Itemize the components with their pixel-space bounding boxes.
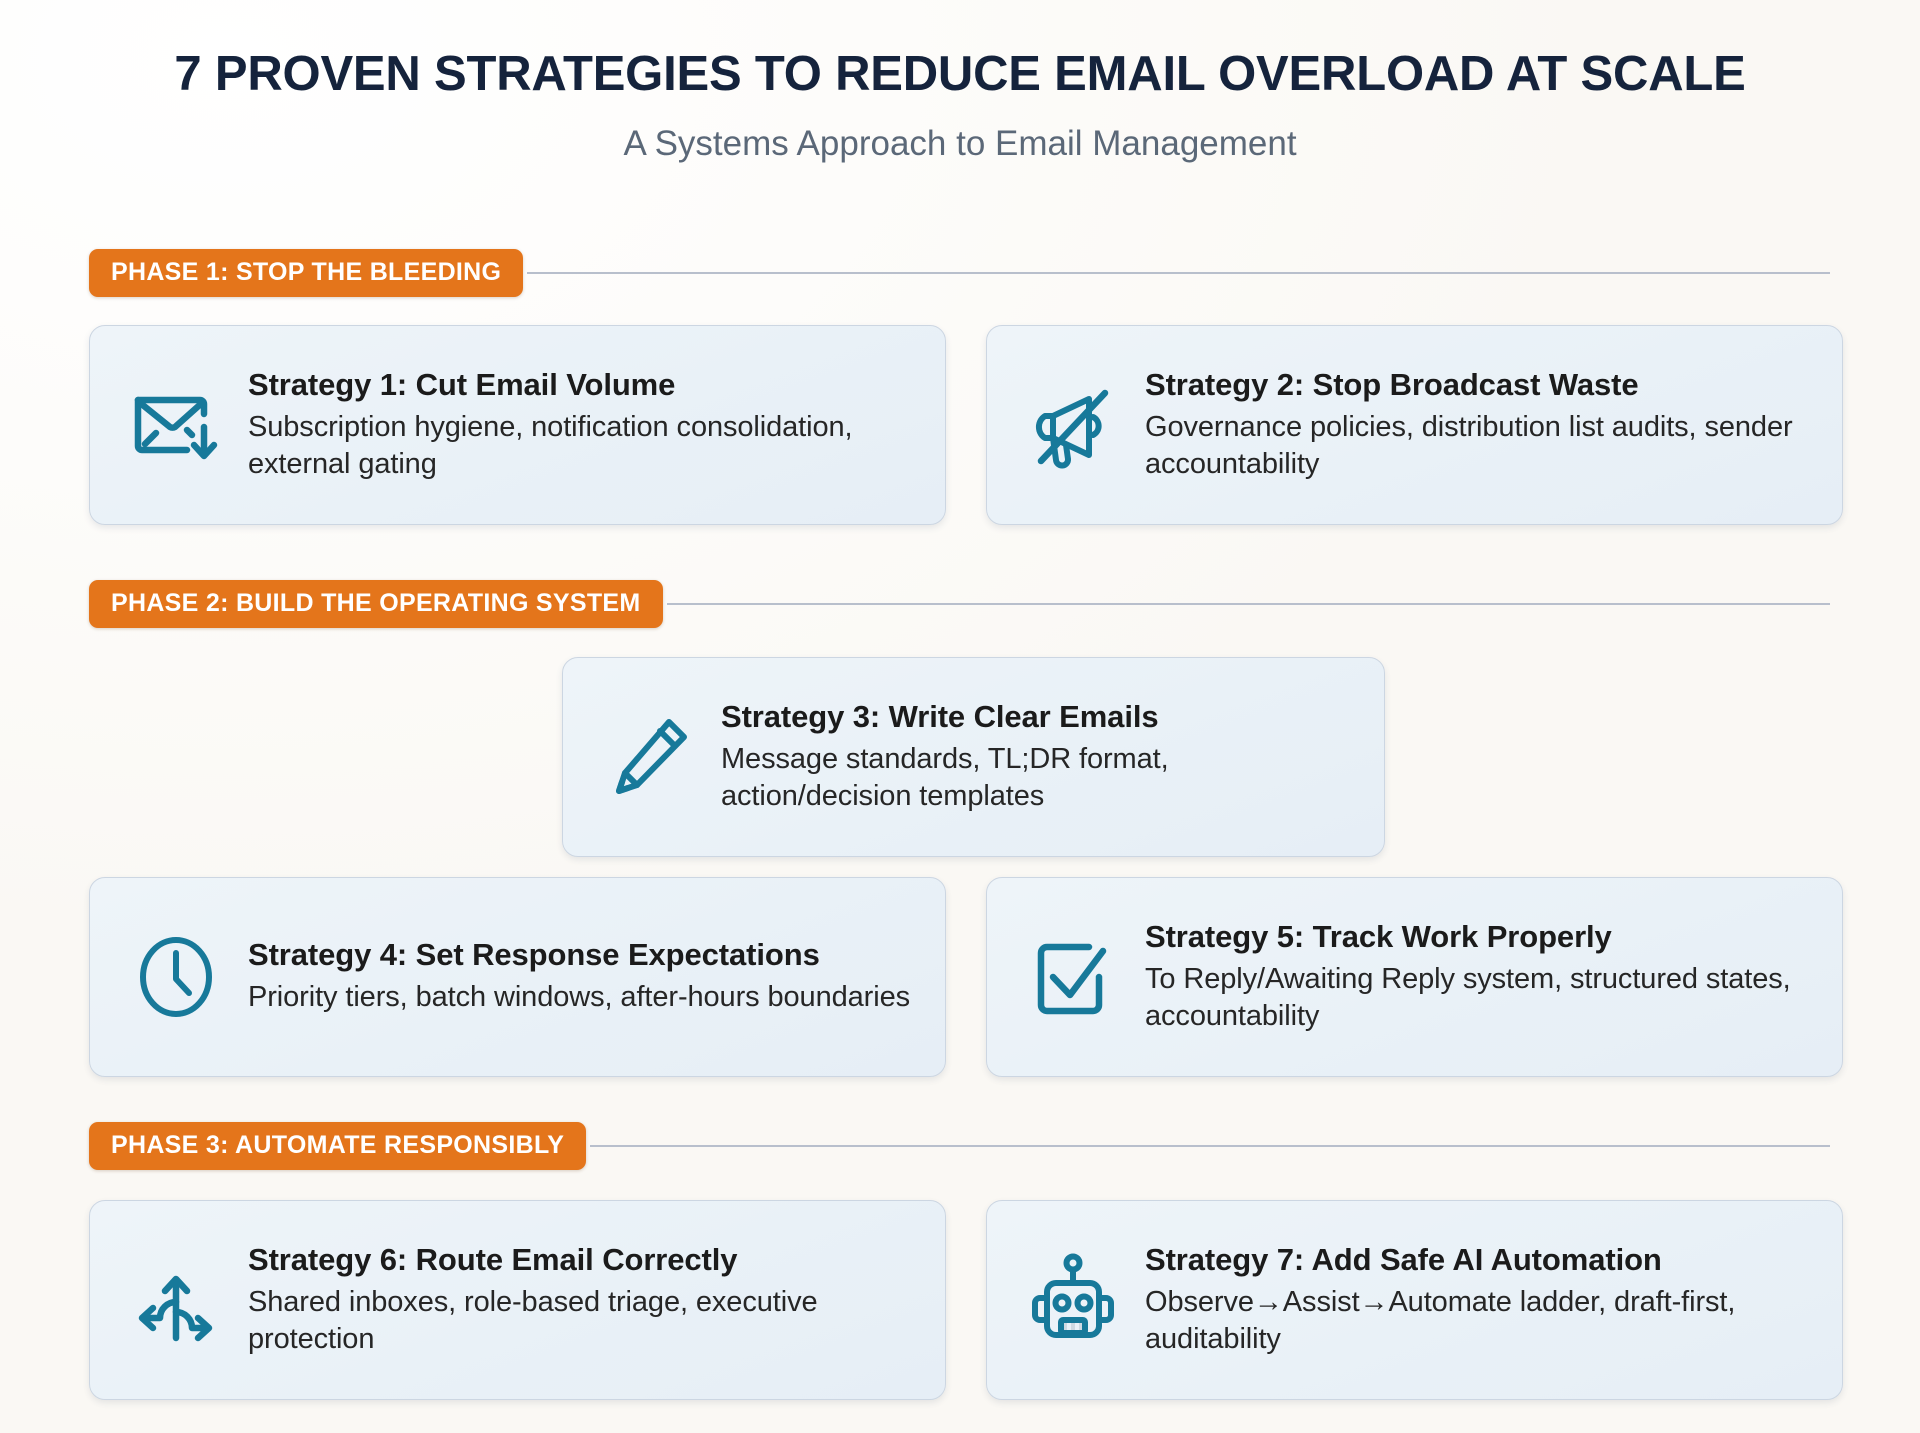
robot-icon xyxy=(1017,1244,1129,1356)
strategy-desc-6: Shared inboxes, role-based triage, execu… xyxy=(248,1284,919,1358)
strategy-body-5: Strategy 5: Track Work Properly To Reply… xyxy=(1145,919,1816,1035)
phase-badge-2: PHASE 2: BUILD THE OPERATING SYSTEM xyxy=(89,580,663,628)
strategy-card-3[interactable]: Strategy 3: Write Clear Emails Message s… xyxy=(562,657,1385,857)
strategy-body-6: Strategy 6: Route Email Correctly Shared… xyxy=(248,1242,919,1358)
phase-header-1: PHASE 1: STOP THE BLEEDING xyxy=(89,249,1830,297)
phase-header-3: PHASE 3: AUTOMATE RESPONSIBLY xyxy=(89,1122,1830,1170)
phase-rule-1 xyxy=(527,272,1830,274)
strategy-desc-1: Subscription hygiene, notification conso… xyxy=(248,409,919,483)
megaphone-muted-icon xyxy=(1017,369,1129,481)
strategy-card-5[interactable]: Strategy 5: Track Work Properly To Reply… xyxy=(986,877,1843,1077)
strategy-desc-2: Governance policies, distribution list a… xyxy=(1145,409,1816,483)
phase-badge-1: PHASE 1: STOP THE BLEEDING xyxy=(89,249,523,297)
strategy-desc-3: Message standards, TL;DR format, action/… xyxy=(721,741,1358,815)
phase-rule-2 xyxy=(667,603,1830,605)
strategy-desc-5: To Reply/Awaiting Reply system, structur… xyxy=(1145,961,1816,1035)
page-title: 7 PROVEN STRATEGIES TO REDUCE EMAIL OVER… xyxy=(0,48,1920,102)
strategy-card-2[interactable]: Strategy 2: Stop Broadcast Waste Governa… xyxy=(986,325,1843,525)
strategy-title-2: Strategy 2: Stop Broadcast Waste xyxy=(1145,367,1816,403)
strategy-body-3: Strategy 3: Write Clear Emails Message s… xyxy=(721,699,1358,815)
strategy-title-6: Strategy 6: Route Email Correctly xyxy=(248,1242,919,1278)
phase-header-2: PHASE 2: BUILD THE OPERATING SYSTEM xyxy=(89,580,1830,628)
strategy-title-1: Strategy 1: Cut Email Volume xyxy=(248,367,919,403)
clock-icon xyxy=(120,921,232,1033)
checkbox-check-icon xyxy=(1017,921,1129,1033)
pencil-icon xyxy=(593,701,705,813)
phase-badge-3: PHASE 3: AUTOMATE RESPONSIBLY xyxy=(89,1122,586,1170)
strategy-body-7: Strategy 7: Add Safe AI Automation Obser… xyxy=(1145,1242,1816,1358)
route-arrows-icon xyxy=(120,1244,232,1356)
phase-rule-3 xyxy=(590,1145,1830,1147)
strategy-body-4: Strategy 4: Set Response Expectations Pr… xyxy=(248,937,919,1016)
strategy-card-6[interactable]: Strategy 6: Route Email Correctly Shared… xyxy=(89,1200,946,1400)
strategy-title-3: Strategy 3: Write Clear Emails xyxy=(721,699,1358,735)
strategy-body-2: Strategy 2: Stop Broadcast Waste Governa… xyxy=(1145,367,1816,483)
page-subtitle: A Systems Approach to Email Management xyxy=(0,124,1920,164)
strategy-title-4: Strategy 4: Set Response Expectations xyxy=(248,937,919,973)
strategy-body-1: Strategy 1: Cut Email Volume Subscriptio… xyxy=(248,367,919,483)
strategy-desc-4: Priority tiers, batch windows, after-hou… xyxy=(248,979,919,1016)
strategy-card-4[interactable]: Strategy 4: Set Response Expectations Pr… xyxy=(89,877,946,1077)
strategy-desc-7: Observe→Assist→Automate ladder, draft-fi… xyxy=(1145,1284,1816,1358)
strategy-card-7[interactable]: Strategy 7: Add Safe AI Automation Obser… xyxy=(986,1200,1843,1400)
header: 7 PROVEN STRATEGIES TO REDUCE EMAIL OVER… xyxy=(0,0,1920,164)
strategy-card-1[interactable]: Strategy 1: Cut Email Volume Subscriptio… xyxy=(89,325,946,525)
infographic-page: 7 PROVEN STRATEGIES TO REDUCE EMAIL OVER… xyxy=(0,0,1920,1433)
envelope-down-arrow-icon xyxy=(120,369,232,481)
strategy-title-7: Strategy 7: Add Safe AI Automation xyxy=(1145,1242,1816,1278)
strategy-title-5: Strategy 5: Track Work Properly xyxy=(1145,919,1816,955)
